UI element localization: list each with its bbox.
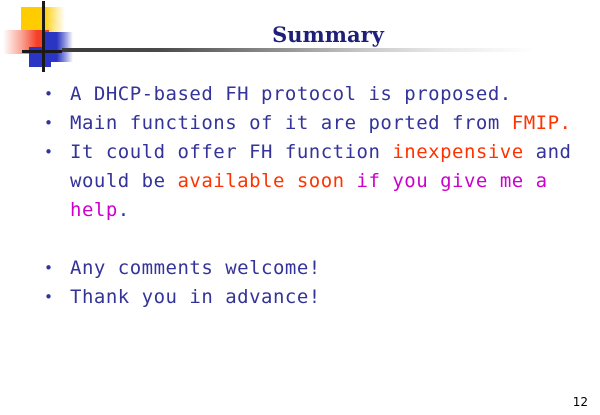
slide-body: •A DHCP-based FH protocol is proposed.•M… xyxy=(44,80,584,312)
text-run: A DHCP-based FH protocol is proposed. xyxy=(70,83,512,105)
bullet-continuation-line: help. xyxy=(44,196,584,225)
bullet-line: •It could offer FH function inexpensive … xyxy=(44,138,584,167)
title-divider-rule xyxy=(62,48,600,52)
bullet-line: •A DHCP-based FH protocol is proposed. xyxy=(44,80,584,109)
text-run: Main functions of it are ported from xyxy=(70,112,512,134)
bullet-marker-icon: • xyxy=(44,109,70,138)
text-run: would be xyxy=(70,170,177,192)
text-run: available soon xyxy=(177,170,356,192)
bullet-marker-icon: • xyxy=(44,254,70,283)
logo-horizontal-rule xyxy=(22,50,62,53)
bullet-marker-icon: • xyxy=(44,283,70,312)
text-run: inexpensive xyxy=(392,141,523,163)
bullet-marker-icon: • xyxy=(44,80,70,109)
text-run: Thank you in advance! xyxy=(70,286,321,308)
text-run: . xyxy=(118,199,130,221)
text-run: FMIP. xyxy=(512,112,572,134)
bullet-continuation-line: would be available soon if you give me a xyxy=(44,167,584,196)
page-number: 12 xyxy=(573,395,588,409)
bullet-marker-icon: • xyxy=(44,138,70,167)
bullet-line: •Thank you in advance! xyxy=(44,283,584,312)
bullet-spacer xyxy=(44,225,584,254)
text-run: and xyxy=(524,141,572,163)
logo-vertical-rule xyxy=(42,1,45,72)
presentation-slide: Summary •A DHCP-based FH protocol is pro… xyxy=(0,0,600,415)
text-run: Any comments welcome! xyxy=(70,257,321,279)
text-run: if you give me a xyxy=(357,170,548,192)
slide-title: Summary xyxy=(70,22,586,47)
bullet-line: •Any comments welcome! xyxy=(44,254,584,283)
bullet-line: •Main functions of it are ported from FM… xyxy=(44,109,584,138)
text-run: help xyxy=(70,199,118,221)
text-run: It could offer FH function xyxy=(70,141,392,163)
